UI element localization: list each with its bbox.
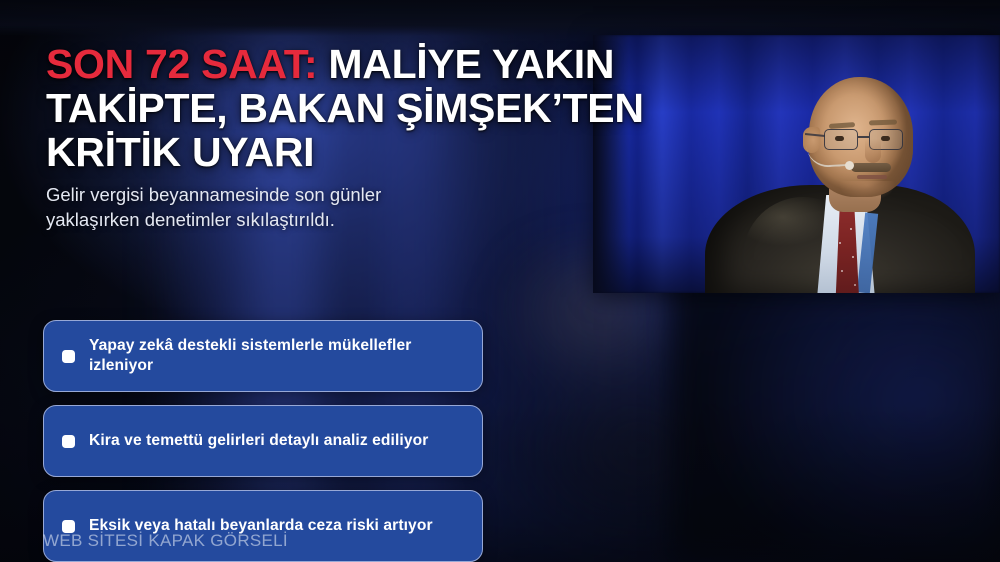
bullet-card-label: Kira ve temettü gelirleri detaylı analiz… bbox=[89, 431, 428, 451]
person-eyebrow-right bbox=[869, 120, 897, 126]
bullet-card[interactable]: Kira ve temettü gelirleri detaylı analiz… bbox=[43, 405, 483, 477]
person-mouth bbox=[857, 175, 887, 179]
bullet-square-icon bbox=[62, 435, 75, 448]
bullet-card[interactable]: Eksik veya hatalı beyanlarda ceza riski … bbox=[43, 490, 483, 562]
bullet-square-icon bbox=[62, 350, 75, 363]
eyeglass-bridge bbox=[858, 136, 869, 138]
person-eye-left bbox=[835, 136, 844, 141]
person-mustache bbox=[851, 163, 891, 172]
person-eye-right bbox=[881, 136, 890, 141]
headline-kicker: SON 72 SAAT: bbox=[46, 41, 317, 87]
headset-microphone-tip bbox=[845, 161, 854, 170]
page-title: SON 72 SAAT: MALİYE YAKIN TAKİPTE, BAKAN… bbox=[46, 42, 746, 174]
headline-subtitle: Gelir vergisi beyannamesinde son günler … bbox=[46, 182, 476, 232]
headline-block: SON 72 SAAT: MALİYE YAKIN TAKİPTE, BAKAN… bbox=[46, 42, 746, 232]
bullet-card-label: Yapay zekâ destekli sistemlerle mükellef… bbox=[89, 336, 464, 376]
watermark-label: WEB SİTESİ KAPAK GÖRSELİ bbox=[43, 531, 288, 551]
bullet-card-list: Yapay zekâ destekli sistemlerle mükellef… bbox=[43, 320, 483, 562]
bullet-card[interactable]: Yapay zekâ destekli sistemlerle mükellef… bbox=[43, 320, 483, 392]
person-nose bbox=[865, 139, 881, 163]
cover-image-canvas: SON 72 SAAT: MALİYE YAKIN TAKİPTE, BAKAN… bbox=[0, 0, 1000, 562]
